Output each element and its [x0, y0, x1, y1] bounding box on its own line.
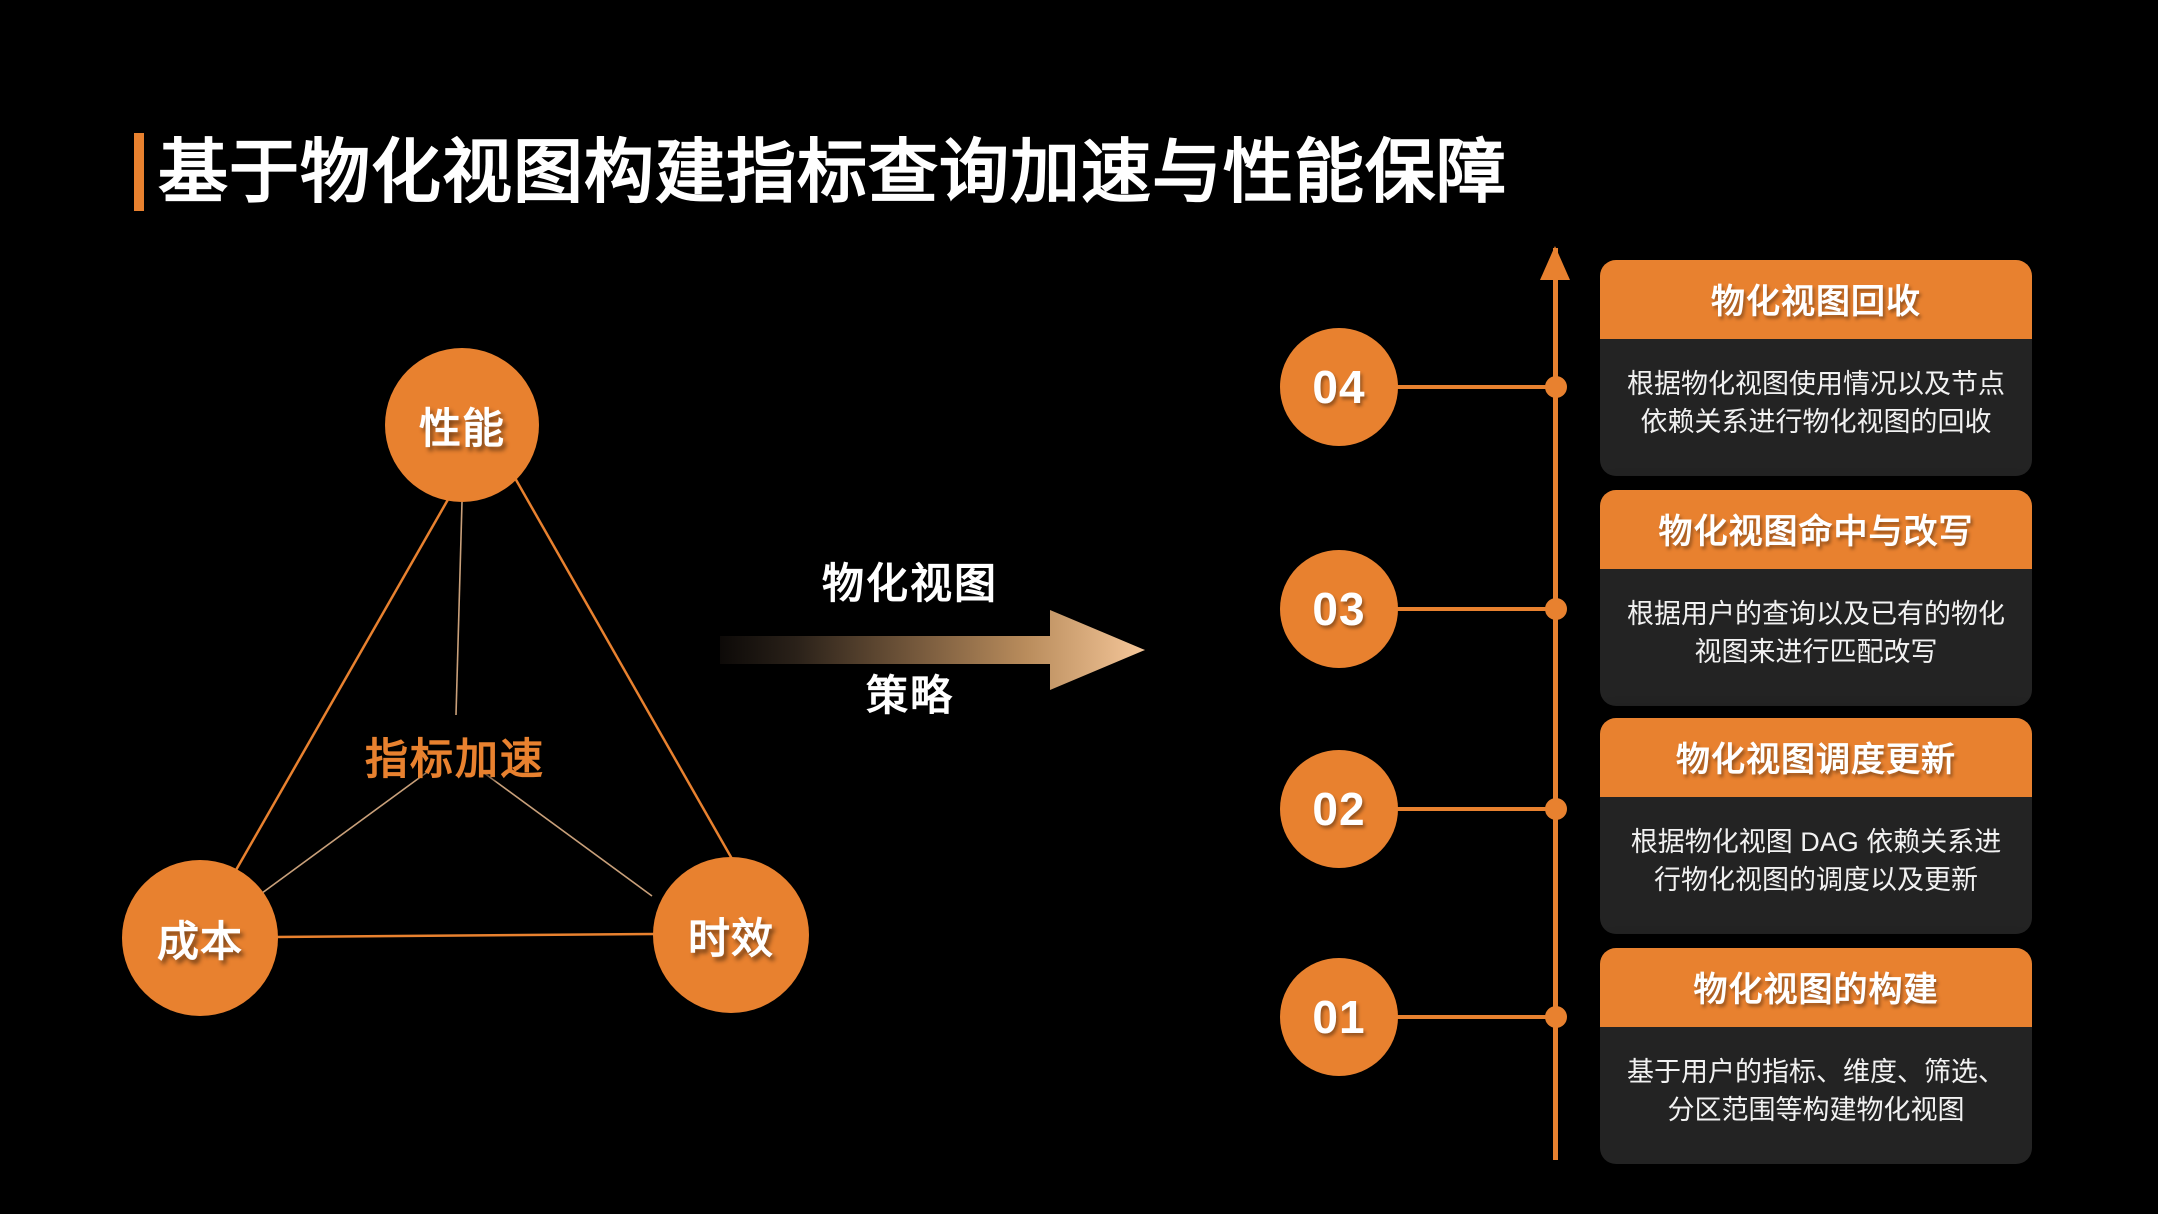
- info-card-03[interactable]: 物化视图命中与改写 根据用户的查询以及已有的物化视图来进行匹配改写: [1600, 490, 2032, 706]
- triangle-node-cost[interactable]: 成本: [122, 860, 278, 1016]
- connector-line-03: [1396, 607, 1558, 611]
- transition-arrow-group: 物化视图 策略: [720, 540, 1220, 760]
- step-number-01[interactable]: 01: [1280, 958, 1398, 1076]
- triangle-node-timeliness-label: 时效: [688, 905, 774, 966]
- arrow-label-bottom: 策略: [720, 662, 1100, 723]
- info-card-01[interactable]: 物化视图的构建 基于用户的指标、维度、筛选、分区范围等构建物化视图: [1600, 948, 2032, 1164]
- step-number-04-label: 04: [1312, 360, 1365, 414]
- title-text: 基于物化视图构建指标查询加速与性能保障: [158, 133, 1507, 211]
- title-accent-bar: [134, 133, 144, 211]
- info-card-01-body: 基于用户的指标、维度、筛选、分区范围等构建物化视图: [1600, 1027, 2032, 1164]
- triangle-node-timeliness[interactable]: 时效: [653, 857, 809, 1013]
- info-card-04[interactable]: 物化视图回收 根据物化视图使用情况以及节点依赖关系进行物化视图的回收: [1600, 260, 2032, 476]
- connector-line-04: [1396, 385, 1558, 389]
- connector-line-01: [1396, 1015, 1558, 1019]
- info-card-03-title: 物化视图命中与改写: [1600, 490, 2032, 569]
- page-title: 基于物化视图构建指标查询加速与性能保障: [134, 128, 1507, 216]
- info-card-04-title: 物化视图回收: [1600, 260, 2032, 339]
- step-number-02-label: 02: [1312, 782, 1365, 836]
- triangle-node-performance[interactable]: 性能: [385, 348, 539, 502]
- connector-line-02: [1396, 807, 1558, 811]
- step-number-04[interactable]: 04: [1280, 328, 1398, 446]
- connector-dot-03: [1545, 598, 1567, 620]
- slide-canvas: 基于物化视图构建指标查询加速与性能保障 性能 成本 时效 指标加速 物化视图: [0, 0, 2158, 1214]
- info-card-04-body: 根据物化视图使用情况以及节点依赖关系进行物化视图的回收: [1600, 339, 2032, 476]
- info-card-02-body: 根据物化视图 DAG 依赖关系进行物化视图的调度以及更新: [1600, 797, 2032, 934]
- connector-dot-02: [1545, 798, 1567, 820]
- info-card-03-body: 根据用户的查询以及已有的物化视图来进行匹配改写: [1600, 569, 2032, 706]
- step-number-03-label: 03: [1312, 582, 1365, 636]
- connector-dot-01: [1545, 1006, 1567, 1028]
- info-card-01-title: 物化视图的构建: [1600, 948, 2032, 1027]
- info-card-02[interactable]: 物化视图调度更新 根据物化视图 DAG 依赖关系进行物化视图的调度以及更新: [1600, 718, 2032, 934]
- step-number-03[interactable]: 03: [1280, 550, 1398, 668]
- triangle-node-performance-label: 性能: [419, 395, 505, 456]
- step-number-02[interactable]: 02: [1280, 750, 1398, 868]
- step-number-01-label: 01: [1312, 990, 1365, 1044]
- triangle-node-cost-label: 成本: [157, 908, 243, 969]
- info-card-02-title: 物化视图调度更新: [1600, 718, 2032, 797]
- connector-dot-04: [1545, 376, 1567, 398]
